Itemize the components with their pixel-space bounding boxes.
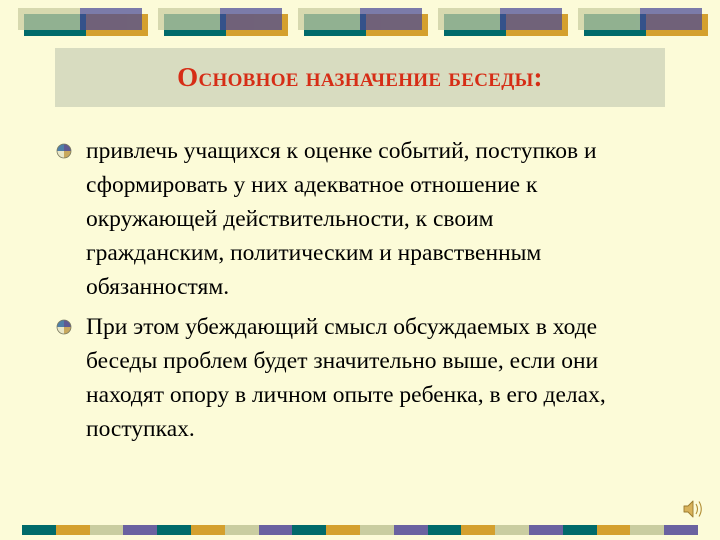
- bottom-bar-swatch-sage: [225, 525, 259, 535]
- bottom-bar-swatch-teal: [22, 525, 56, 535]
- band-unit: [158, 8, 288, 36]
- bottom-bar-swatch-sage: [495, 525, 529, 535]
- band-swatch-sage: [158, 8, 220, 30]
- sphere-bullet-icon: [56, 143, 72, 159]
- sphere-bullet-icon: [56, 319, 72, 335]
- bottom-bar-swatch-gold: [461, 525, 495, 535]
- band-unit-upper: [18, 8, 142, 30]
- band-unit: [18, 8, 148, 36]
- list-item: привлечь учащихся к оценке событий, пост…: [56, 134, 676, 304]
- band-swatch-sage: [578, 8, 640, 30]
- bottom-bar-swatch-gold: [191, 525, 225, 535]
- bottom-bar-swatch-gold: [597, 525, 631, 535]
- bottom-bar-swatch-teal: [292, 525, 326, 535]
- band-swatch-purple: [220, 8, 282, 30]
- bottom-bar-swatch-gold: [56, 525, 90, 535]
- band-swatch-sage: [18, 8, 80, 30]
- bottom-bar-swatch-purple: [664, 525, 698, 535]
- list-item: При этом убеждающий смысл обсуждаемых в …: [56, 310, 676, 446]
- band-unit-upper: [438, 8, 562, 30]
- bottom-bar-swatch-purple: [259, 525, 293, 535]
- list-item-label: При этом убеждающий смысл обсуждаемых в …: [86, 310, 632, 446]
- band-swatch-purple: [640, 8, 702, 30]
- slide-title-box: Основное назначение беседы:: [55, 48, 665, 107]
- bottom-bar-swatch-teal: [157, 525, 191, 535]
- band-swatch-purple: [360, 8, 422, 30]
- band-unit: [438, 8, 568, 36]
- band-swatch-purple: [80, 8, 142, 30]
- band-unit-upper: [158, 8, 282, 30]
- bottom-decorative-bar: [22, 525, 698, 535]
- speaker-icon[interactable]: [682, 498, 708, 520]
- bottom-bar-swatch-sage: [90, 525, 124, 535]
- band-unit: [298, 8, 428, 36]
- band-unit-upper: [578, 8, 702, 30]
- page-title: Основное назначение беседы:: [177, 63, 543, 93]
- band-swatch-sage: [298, 8, 360, 30]
- band-swatch-purple: [500, 8, 562, 30]
- bottom-bar-swatch-teal: [428, 525, 462, 535]
- bottom-bar-swatch-sage: [630, 525, 664, 535]
- bottom-bar-swatch-gold: [326, 525, 360, 535]
- bottom-bar-swatch-purple: [529, 525, 563, 535]
- bottom-bar-swatch-sage: [360, 525, 394, 535]
- band-swatch-sage: [438, 8, 500, 30]
- band-unit: [578, 8, 708, 36]
- list-item-label: привлечь учащихся к оценке событий, пост…: [86, 134, 632, 304]
- bottom-bar-swatch-purple: [394, 525, 428, 535]
- top-decorative-band: [0, 0, 720, 44]
- slide-body: привлечь учащихся к оценке событий, пост…: [56, 134, 676, 452]
- bottom-bar-swatch-teal: [563, 525, 597, 535]
- band-unit-upper: [298, 8, 422, 30]
- bottom-bar-swatch-purple: [123, 525, 157, 535]
